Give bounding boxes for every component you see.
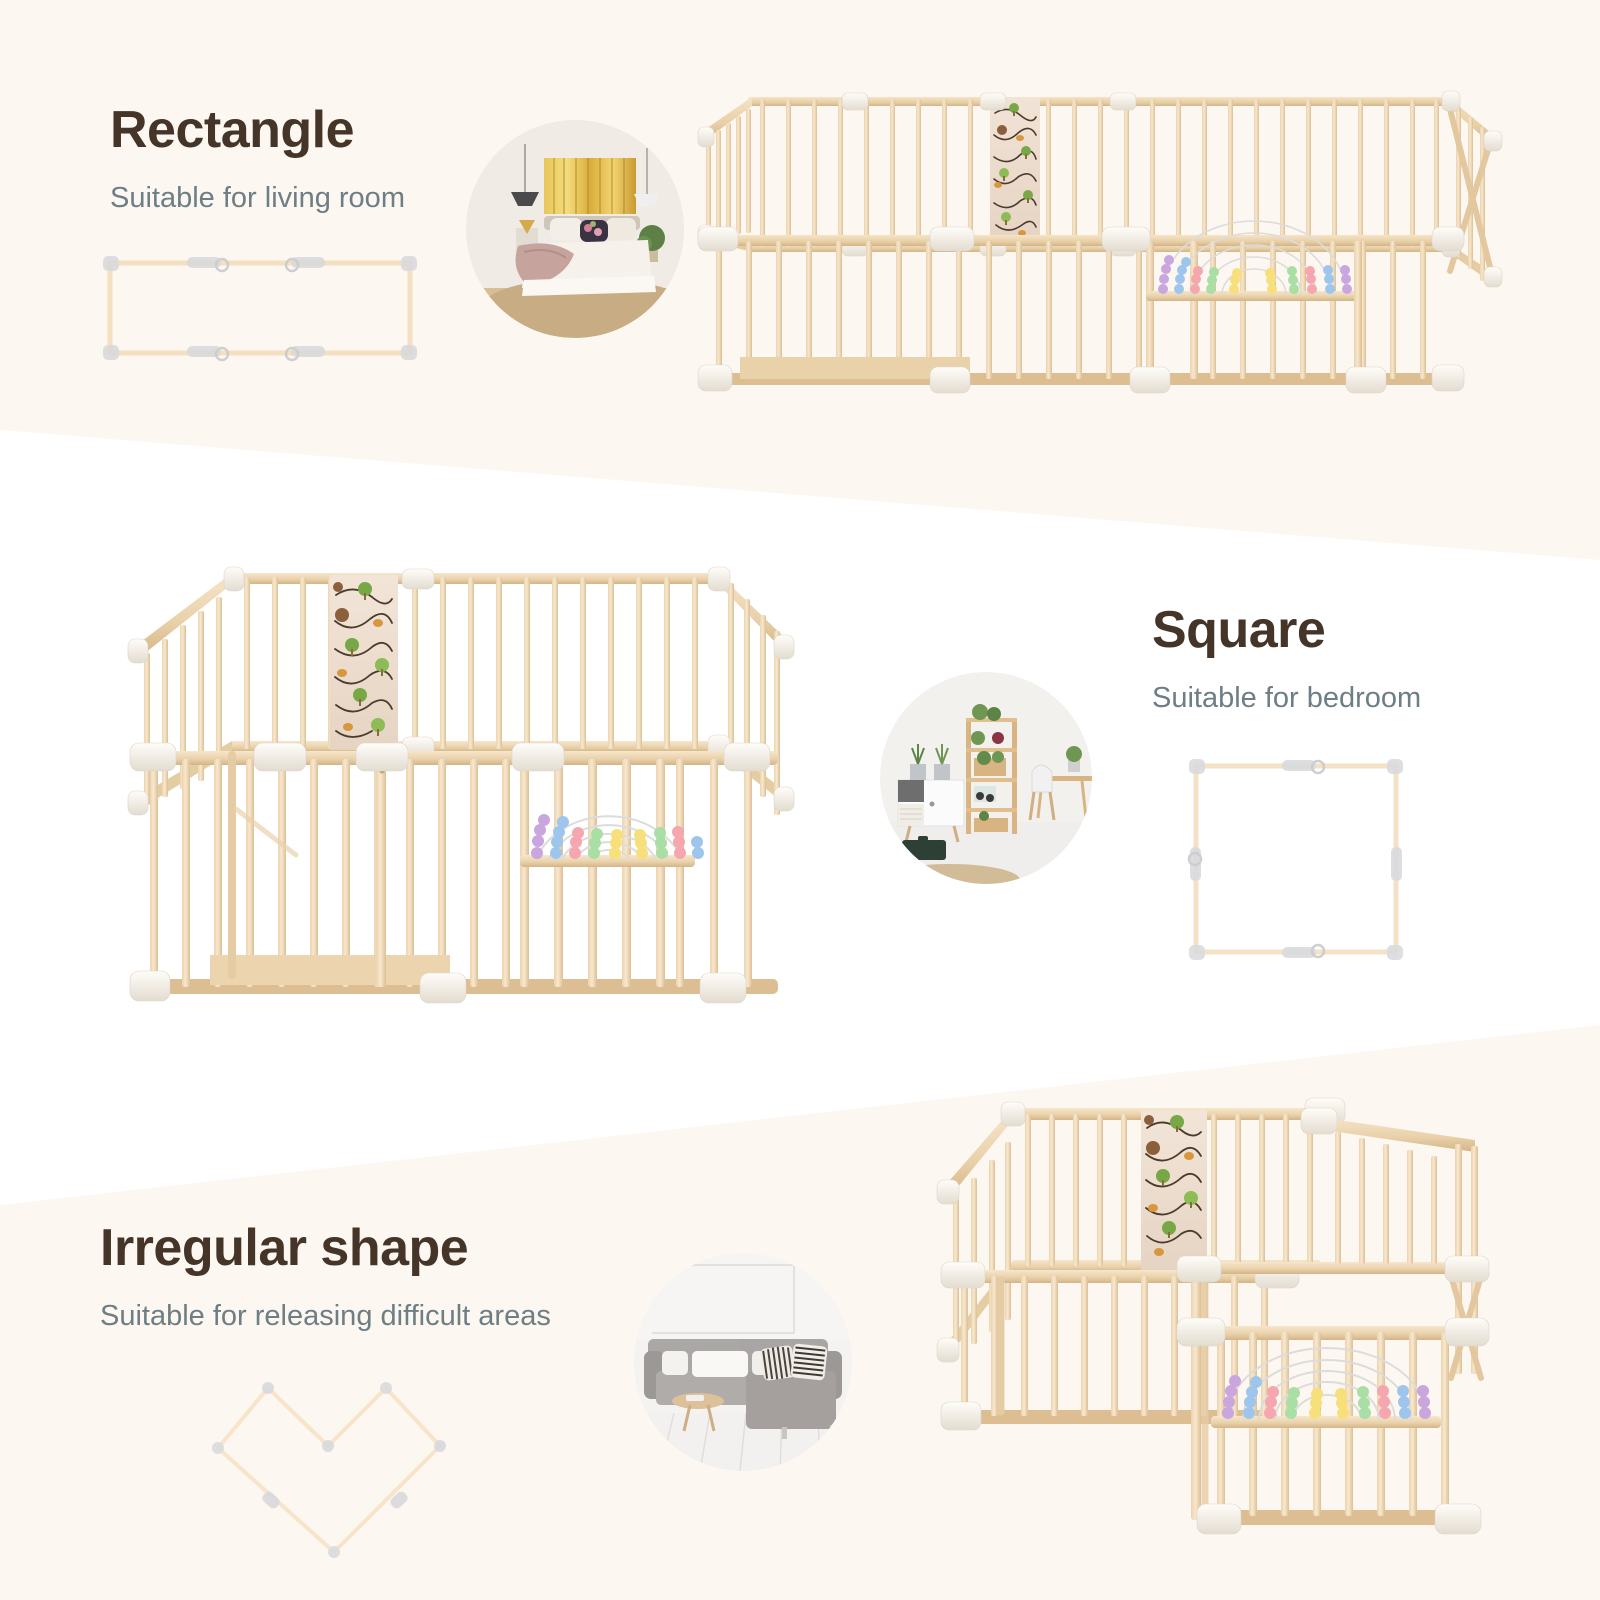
scandinavian-room-photo-circle: [880, 672, 1092, 884]
forest-maze-activity-panel: [990, 97, 1040, 247]
rectangle-headline: Rectangle: [110, 100, 405, 160]
irregular-playpen: [915, 1080, 1505, 1560]
living-room-sofa-photo-circle: [634, 1253, 852, 1471]
rectangle-subhead: Suitable for living room: [110, 182, 405, 215]
section-rectangle: Rectangle Suitable for living room: [110, 100, 405, 215]
irregular-subhead: Suitable for releasing difficult areas: [100, 1300, 551, 1333]
rectangle-outline-diagram: [95, 245, 425, 370]
forest-maze-activity-panel: [1141, 1110, 1207, 1270]
chevron-outline-diagram: [200, 1360, 480, 1560]
square-subhead: Suitable for bedroom: [1152, 682, 1421, 715]
rainbow-abacus-toy: [1211, 1348, 1441, 1428]
square-headline: Square: [1152, 600, 1421, 660]
section-irregular: Irregular shape Suitable for releasing d…: [100, 1218, 551, 1333]
bedroom-photo-circle: [466, 120, 684, 338]
square-playpen: [120, 555, 800, 1025]
section-square: Square Suitable for bedroom: [1152, 600, 1421, 715]
irregular-headline: Irregular shape: [100, 1218, 551, 1278]
square-outline-diagram: [1182, 752, 1410, 966]
rectangular-playpen: [690, 75, 1510, 420]
forest-maze-activity-panel: [330, 575, 398, 750]
